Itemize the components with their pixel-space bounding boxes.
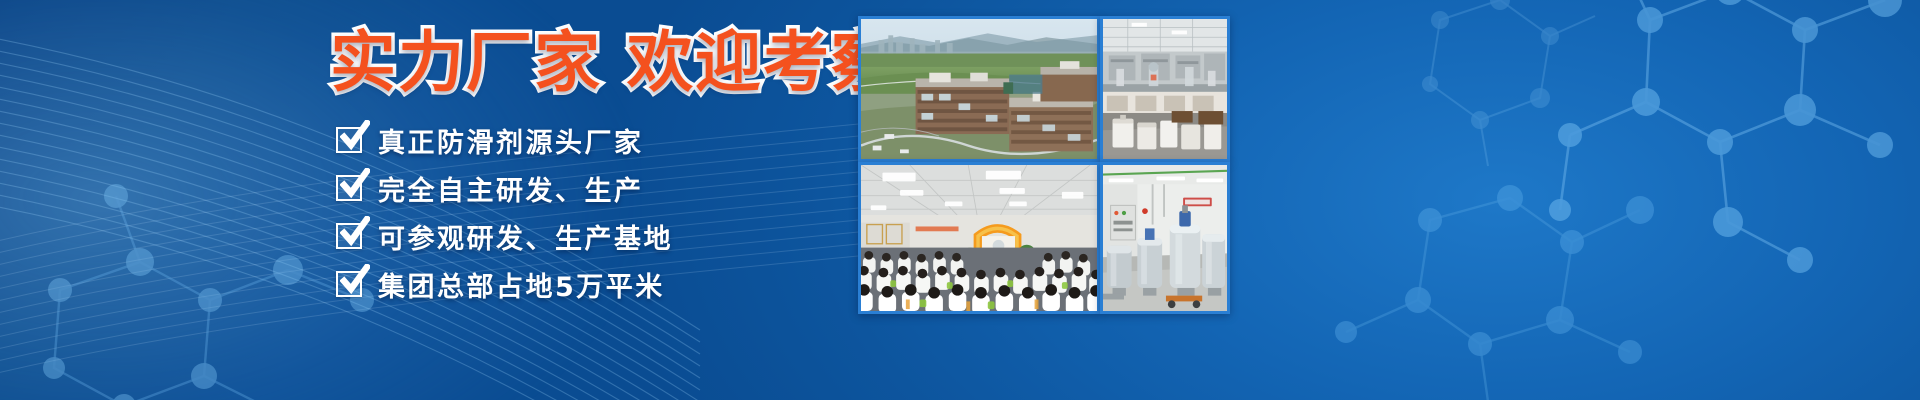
- photo-production-equipment: [1100, 162, 1230, 314]
- list-item-label: 完全自主研发、生产: [378, 169, 644, 208]
- list-item-label: 集团总部占地5万平米: [378, 265, 665, 304]
- checkbox-checked-icon: [336, 127, 362, 153]
- list-item: 可参观研发、生产基地: [336, 214, 673, 258]
- checkbox-checked-icon: [336, 271, 362, 297]
- molecule-structure-icon-lower: [1310, 180, 1670, 400]
- list-item: 真正防滑剂源头厂家: [336, 118, 673, 162]
- list-item-label: 真正防滑剂源头厂家: [378, 121, 644, 160]
- photo-collage: [858, 16, 1226, 314]
- list-item: 集团总部占地5万平米: [336, 262, 673, 306]
- checkbox-checked-icon: [336, 175, 362, 201]
- list-item: 完全自主研发、生产: [336, 166, 673, 210]
- photo-aerial-factory-campus: [858, 16, 1100, 162]
- photo-staff-assembly: [858, 162, 1100, 314]
- banner-headline: 实力厂家 欢迎考察: [330, 24, 830, 102]
- list-item-label: 可参观研发、生产基地: [378, 217, 673, 256]
- checkbox-checked-icon: [336, 223, 362, 249]
- photo-laboratory: [1100, 16, 1230, 162]
- promo-banner: 实力厂家 欢迎考察 真正防滑剂源头厂家 完全自主研发、生产: [0, 0, 1920, 400]
- feature-list: 真正防滑剂源头厂家 完全自主研发、生产 可参观研发、生产基地: [336, 118, 673, 310]
- molecule-structure-icon-faint: [1380, 0, 1600, 170]
